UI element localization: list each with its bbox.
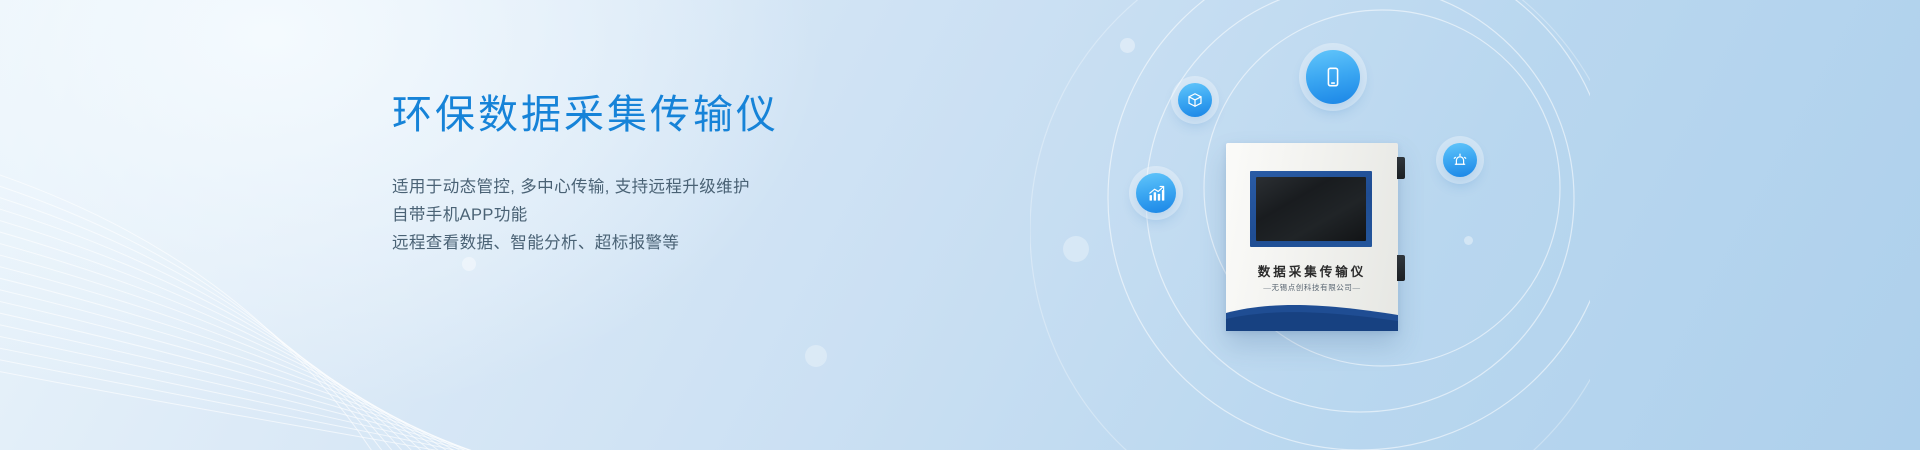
bar-chart-icon[interactable] [1136,173,1176,213]
package-box-icon[interactable] [1178,83,1212,117]
product-device-image: 数据采集传输仪 —无锡点创科技有限公司— [1226,143,1398,331]
device-screen [1256,177,1366,241]
description-line-2: 自带手机APP功能 [392,201,912,229]
device-base-wave [1226,301,1398,331]
bubble-decoration [805,345,827,367]
description-line-1: 适用于动态管控, 多中心传输, 支持远程升级维护 [392,173,912,201]
page-title: 环保数据采集传输仪 [392,92,912,139]
bubble-decoration [462,257,476,271]
device-company-label: —无锡点创科技有限公司— [1226,282,1398,293]
banner-description: 适用于动态管控, 多中心传输, 支持远程升级维护 自带手机APP功能 远程查看数… [392,173,912,257]
description-line-3: 远程查看数据、智能分析、超标报警等 [392,229,912,257]
product-hero-banner: 环保数据采集传输仪 适用于动态管控, 多中心传输, 支持远程升级维护 自带手机A… [0,0,1920,450]
alarm-bell-icon[interactable] [1443,143,1477,177]
phone-app-icon[interactable] [1306,50,1360,104]
banner-copy: 环保数据采集传输仪 适用于动态管控, 多中心传输, 支持远程升级维护 自带手机A… [392,92,912,257]
device-screen-frame [1250,171,1372,247]
device-label: 数据采集传输仪 [1226,261,1398,280]
device-side-connector [1397,157,1405,179]
device-side-connector [1397,255,1405,281]
bubble-decoration [1063,236,1089,262]
bubble-decoration [1464,236,1473,245]
bubble-decoration [1120,38,1135,53]
